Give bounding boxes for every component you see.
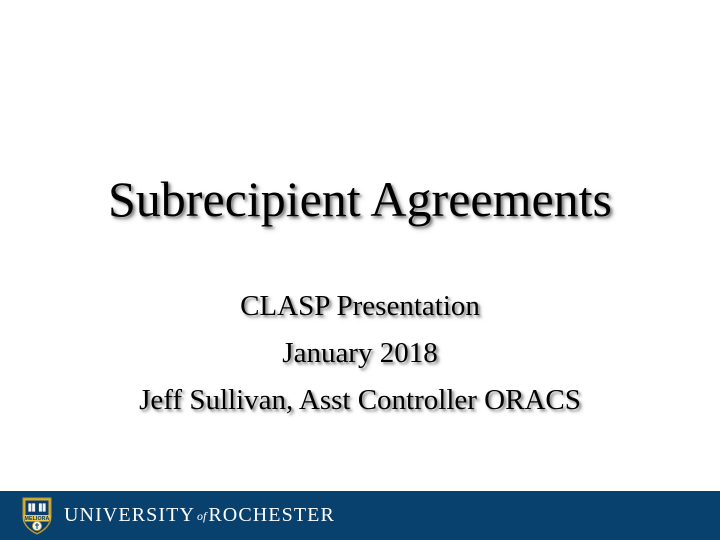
footer-band: MELIORA UNIVERSITY of ROCHESTER: [0, 491, 720, 540]
svg-text:MELIORA: MELIORA: [25, 516, 50, 522]
subtitle-line-date: January 2018: [0, 330, 720, 377]
presentation-slide: Subrecipient Agreements CLASP Presentati…: [0, 0, 720, 540]
title-block: Subrecipient Agreements: [0, 170, 720, 228]
university-shield-crest-icon: MELIORA: [22, 497, 52, 535]
subtitle-line-presentation: CLASP Presentation: [0, 283, 720, 330]
university-wordmark: UNIVERSITY of ROCHESTER: [64, 504, 335, 527]
subtitle-block: CLASP Presentation January 2018 Jeff Sul…: [0, 283, 720, 424]
subtitle-line-presenter: Jeff Sullivan, Asst Controller ORACS: [0, 377, 720, 424]
wordmark-university: UNIVERSITY: [64, 504, 195, 527]
wordmark-of: of: [195, 509, 208, 524]
footer-branding: MELIORA UNIVERSITY of ROCHESTER: [22, 491, 335, 540]
wordmark-rochester: ROCHESTER: [208, 504, 335, 527]
page-title: Subrecipient Agreements: [0, 170, 720, 228]
